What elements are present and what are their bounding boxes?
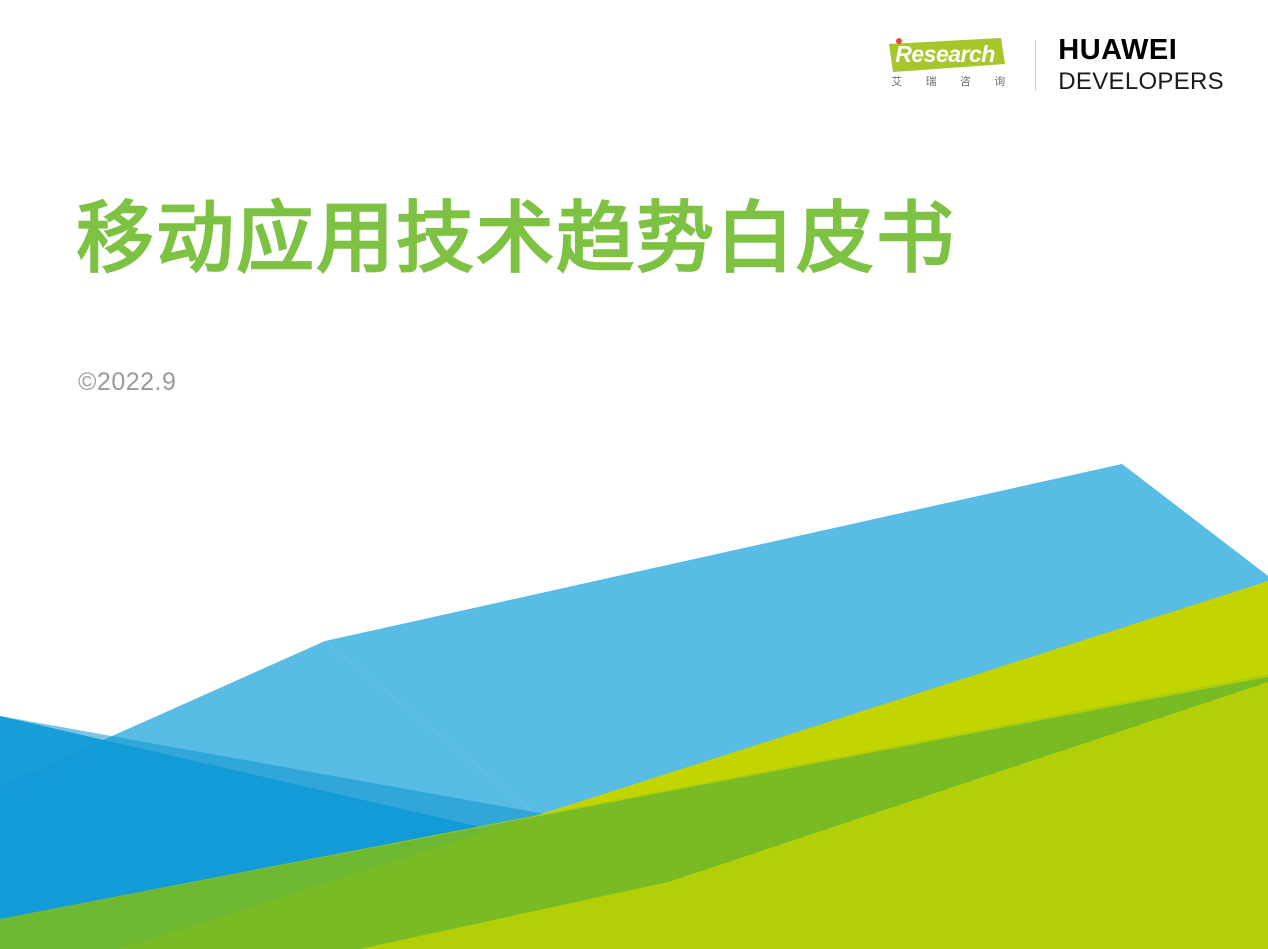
page-title: 移动应用技术趋势白皮书 bbox=[76, 176, 956, 288]
iresearch-cn-char-1: 艾 bbox=[891, 73, 902, 89]
logo-divider bbox=[1035, 40, 1036, 90]
developers-wordmark: DEVELOPERS bbox=[1058, 70, 1224, 94]
iresearch-chinese-name: 艾 瑞 咨 询 bbox=[891, 73, 1005, 89]
iresearch-cn-char-4: 询 bbox=[994, 73, 1005, 89]
iresearch-cn-char-2: 瑞 bbox=[926, 73, 937, 89]
iresearch-logo: Research 艾 瑞 咨 询 bbox=[887, 36, 1009, 94]
cover-artwork bbox=[0, 449, 1268, 949]
huawei-wordmark: HUAWEI bbox=[1058, 36, 1224, 65]
logo-bar: Research 艾 瑞 咨 询 HUAWEI DEVELOPERS bbox=[887, 34, 1224, 96]
iresearch-cn-char-3: 咨 bbox=[960, 73, 971, 89]
huawei-developers-logo: HUAWEI DEVELOPERS bbox=[1058, 36, 1224, 94]
iresearch-wordmark: Research bbox=[895, 41, 995, 67]
slide-cover: Research 艾 瑞 咨 询 HUAWEI DEVELOPERS 移动应用技… bbox=[0, 0, 1268, 949]
copyright-date: ©2022.9 bbox=[78, 368, 176, 397]
